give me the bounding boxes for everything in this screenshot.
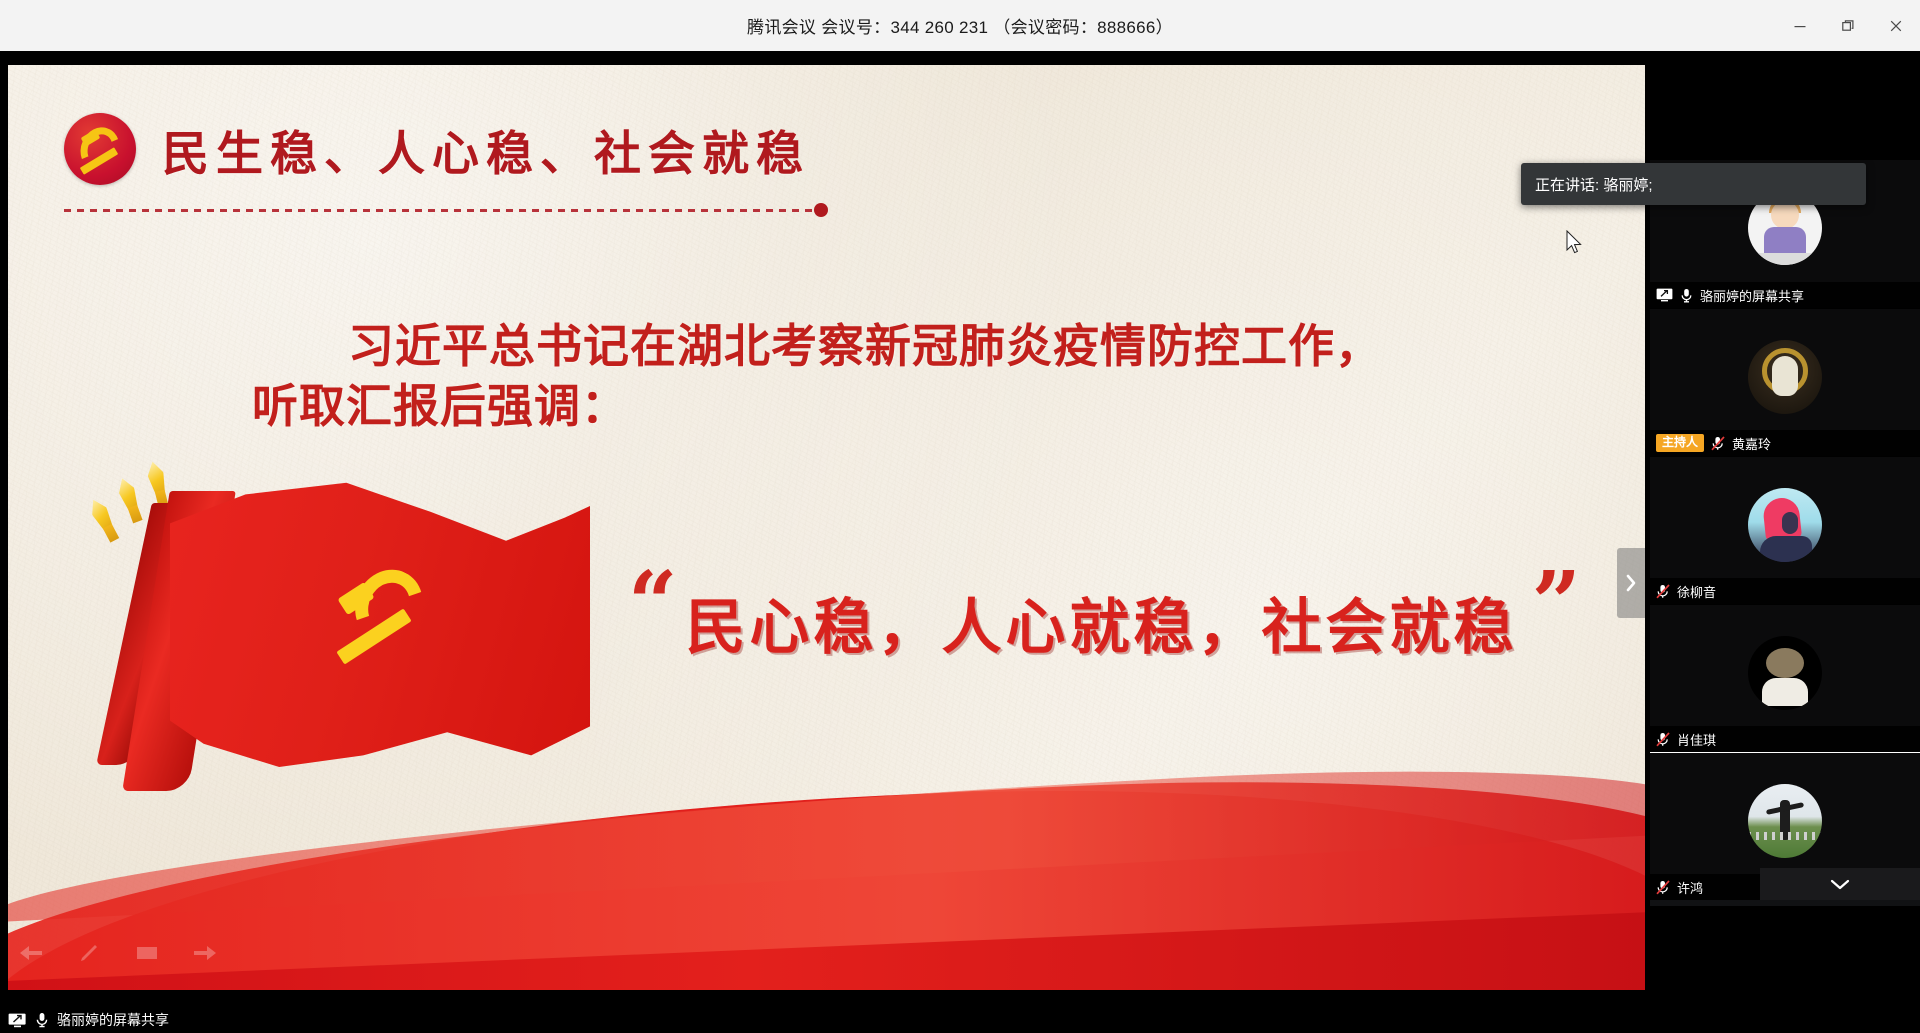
close-button[interactable] — [1872, 0, 1920, 51]
mouse-cursor-icon — [1566, 230, 1583, 260]
screen-share-status-text: 骆丽婷的屏幕共享 — [57, 1010, 169, 1030]
screen-share-status-bar: 骆丽婷的屏幕共享 — [0, 1007, 1920, 1033]
participant-label: 徐柳音 — [1650, 578, 1920, 604]
screen-share-icon — [1656, 288, 1673, 302]
participant-name: 许鸿 — [1677, 878, 1703, 897]
quote-open-mark: “ — [628, 565, 677, 642]
flag-hammer-sickle-icon — [320, 569, 438, 679]
shared-screen-stage: 民生稳、人心稳、社会就稳 习近平总书记在湖北考察新冠肺炎疫情防控工作，听取汇报后… — [0, 51, 1645, 1007]
window-controls — [1776, 0, 1920, 51]
next-slide-icon[interactable] — [190, 938, 220, 968]
mic-muted-icon — [1711, 436, 1725, 451]
pen-icon[interactable] — [74, 938, 104, 968]
participant-name: 徐柳音 — [1677, 582, 1716, 601]
slide-header: 民生稳、人心稳、社会就稳 — [64, 113, 810, 185]
avatar — [1748, 636, 1822, 710]
participant-name: 黄嘉玲 — [1732, 434, 1771, 453]
title-bar: 腾讯会议 会议号：344 260 231 （会议密码：888666） — [0, 0, 1920, 51]
participant-name: 肖佳琪 — [1677, 730, 1716, 749]
prev-slide-icon[interactable] — [16, 938, 46, 968]
presentation-slide: 民生稳、人心稳、社会就稳 习近平总书记在湖北考察新冠肺炎疫情防控工作，听取汇报后… — [8, 65, 1645, 990]
participant-tile[interactable]: 徐柳音 — [1650, 456, 1920, 604]
participant-tile[interactable]: 肖佳琪 — [1650, 604, 1920, 752]
speaking-tooltip-text: 正在讲话: 骆丽婷; — [1535, 174, 1653, 195]
flag-cloth — [170, 477, 590, 767]
slide-quote: “ 民心稳，人心就稳，社会就稳 ” — [628, 565, 1581, 666]
participant-label: 骆丽婷的屏幕共享 — [1650, 282, 1920, 308]
mic-muted-icon — [1656, 732, 1670, 747]
minimize-button[interactable] — [1776, 0, 1824, 51]
mic-on-icon — [1680, 288, 1693, 303]
title-divider-dot-icon — [814, 203, 828, 217]
presenter-toolbar — [16, 938, 220, 968]
avatar — [1748, 784, 1822, 858]
avatar — [1748, 488, 1822, 562]
slide-quote-text: 民心稳，人心就稳，社会就稳 — [685, 579, 1517, 666]
participant-label: 肖佳琪 — [1650, 726, 1920, 752]
slide-body-text: 习近平总书记在湖北考察新冠肺炎疫情防控工作，听取汇报后强调： — [252, 317, 1412, 437]
slide-header-title: 民生稳、人心稳、社会就稳 — [162, 115, 810, 184]
mic-muted-icon — [1656, 880, 1670, 895]
mic-on-icon — [35, 1012, 49, 1028]
window-title: 腾讯会议 会议号：344 260 231 （会议密码：888666） — [747, 13, 1173, 38]
filmstrip-scroll-down-button[interactable] — [1760, 868, 1920, 900]
participant-name: 骆丽婷的屏幕共享 — [1700, 286, 1804, 305]
participant-label: 主持人 黄嘉玲 — [1650, 430, 1920, 456]
collapse-filmstrip-handle[interactable] — [1617, 548, 1645, 618]
participant-tile[interactable]: 许鸿 — [1650, 752, 1920, 900]
speaking-tooltip: 正在讲话: 骆丽婷; — [1521, 163, 1866, 205]
slides-grid-icon[interactable] — [132, 938, 162, 968]
quote-close-mark: ” — [1531, 565, 1580, 642]
avatar — [1748, 340, 1822, 414]
participant-filmstrip[interactable]: 骆丽婷的屏幕共享 主持人 黄嘉玲 — [1650, 160, 1920, 906]
screen-share-icon — [8, 1013, 27, 1028]
restore-button[interactable] — [1824, 0, 1872, 51]
cpc-emblem-icon — [64, 113, 136, 185]
slide-ribbon-decoration — [8, 750, 1645, 990]
meeting-window: 腾讯会议 会议号：344 260 231 （会议密码：888666） — [0, 0, 1920, 1033]
host-badge: 主持人 — [1656, 434, 1704, 452]
mic-muted-icon — [1656, 584, 1670, 599]
participant-tile[interactable]: 主持人 黄嘉玲 — [1650, 308, 1920, 456]
title-divider — [64, 209, 822, 212]
